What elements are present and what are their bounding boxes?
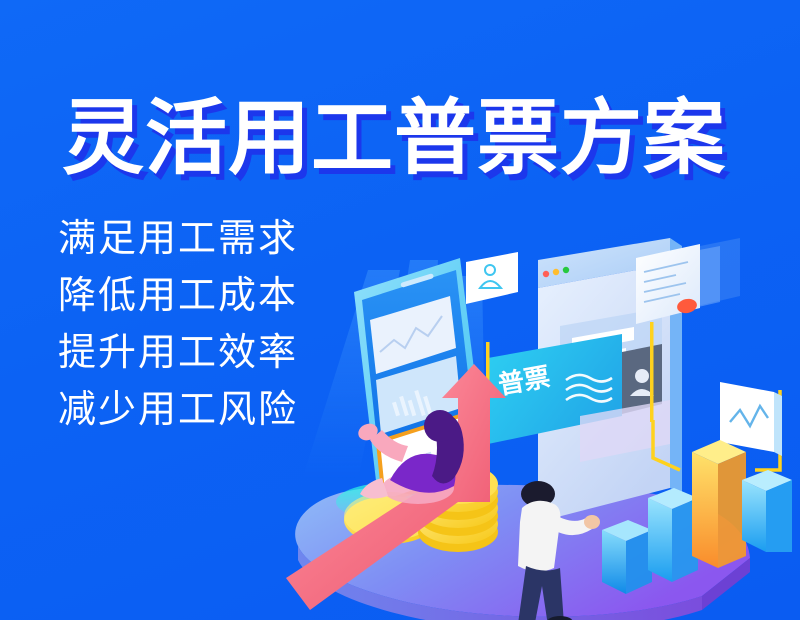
- subtitle-item-4: 减少用工风险: [58, 386, 298, 434]
- bar-4: [742, 470, 792, 552]
- subtitle-item-2: 降低用工成本: [58, 272, 298, 320]
- window-close-dot: [543, 271, 549, 277]
- window-maximize-dot: [563, 267, 569, 273]
- promo-banner: 普票: [0, 0, 800, 620]
- bar-2: [648, 488, 698, 582]
- subtitle-item-1: 满足用工需求: [58, 215, 298, 263]
- subtitle-item-3: 提升用工效率: [58, 329, 298, 377]
- bar-1: [602, 520, 652, 594]
- page-title: 灵活用工普票方案: [62, 95, 726, 183]
- subtitle-list: 满足用工需求 降低用工成本 提升用工效率 减少用工风险: [58, 215, 298, 443]
- bar-3-highlight: [692, 440, 746, 568]
- isometric-illustration: 普票: [250, 230, 800, 620]
- window-minimize-dot: [553, 269, 559, 275]
